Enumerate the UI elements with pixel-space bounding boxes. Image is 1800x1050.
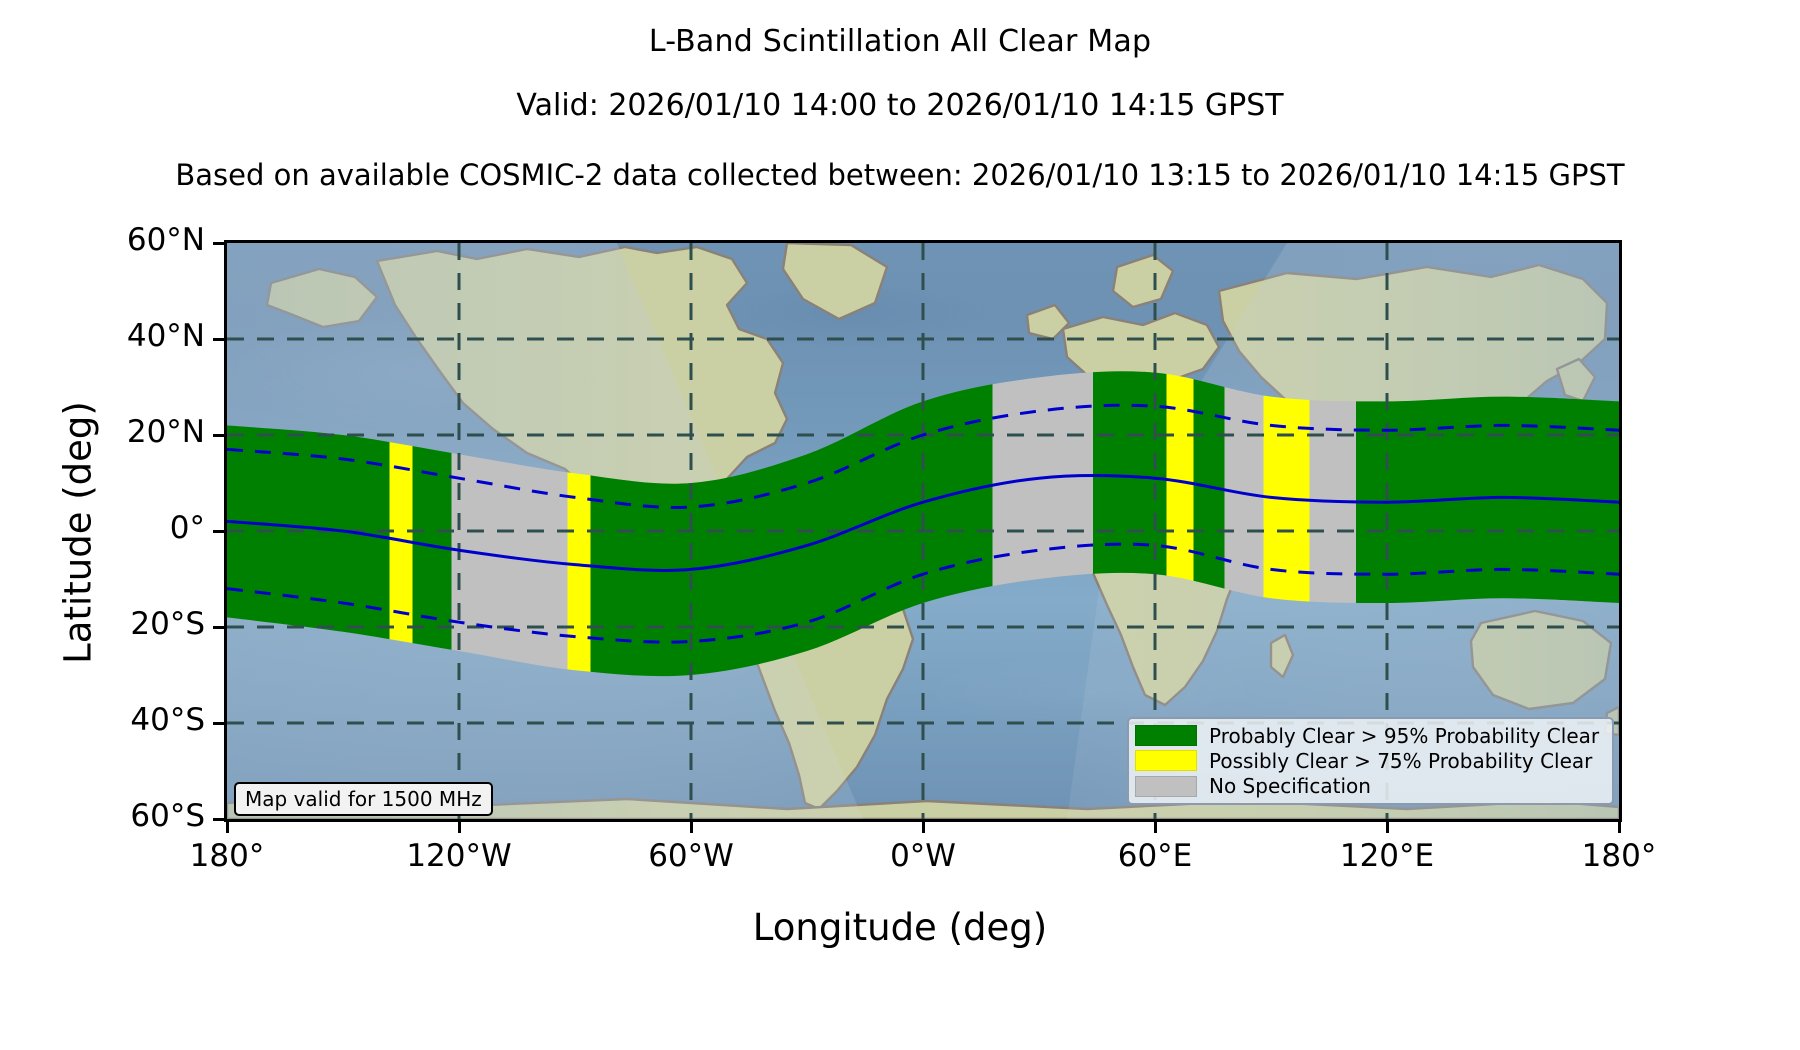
legend-label: Possibly Clear > 75% Probability Clear <box>1209 749 1592 773</box>
y-tick-mark <box>213 338 224 341</box>
y-tick-mark <box>213 434 224 437</box>
x-tick-mark <box>690 822 693 833</box>
x-tick-label: 60°W <box>571 838 811 874</box>
y-tick-mark <box>213 242 224 245</box>
legend-item: No Specification <box>1135 774 1604 799</box>
x-tick-mark <box>458 822 461 833</box>
y-tick-label: 60°N <box>25 222 205 258</box>
x-tick-label: 120°W <box>339 838 579 874</box>
y-tick-mark <box>213 626 224 629</box>
y-tick-label: 60°S <box>25 798 205 834</box>
map-legend: Probably Clear > 95% Probability Clear P… <box>1127 717 1614 805</box>
legend-swatch-no-specification <box>1135 776 1197 797</box>
x-tick-label: 60°E <box>1035 838 1275 874</box>
legend-item: Probably Clear > 95% Probability Clear <box>1135 723 1604 748</box>
legend-label: Probably Clear > 95% Probability Clear <box>1209 724 1599 748</box>
legend-swatch-probably-clear <box>1135 725 1197 746</box>
legend-label: No Specification <box>1209 774 1371 798</box>
y-tick-mark <box>213 818 224 821</box>
y-tick-label: 20°S <box>25 606 205 642</box>
x-tick-mark <box>226 822 229 833</box>
legend-item: Possibly Clear > 75% Probability Clear <box>1135 748 1604 773</box>
y-tick-mark <box>213 722 224 725</box>
data-source-subtitle: Based on available COSMIC-2 data collect… <box>0 158 1800 192</box>
legend-swatch-possibly-clear <box>1135 750 1197 771</box>
x-tick-mark <box>1386 822 1389 833</box>
y-tick-mark <box>213 530 224 533</box>
x-tick-label: 180° <box>1499 838 1739 874</box>
valid-time-subtitle: Valid: 2026/01/10 14:00 to 2026/01/10 14… <box>0 88 1800 123</box>
x-axis-label: Longitude (deg) <box>0 906 1800 949</box>
x-tick-mark <box>1618 822 1621 833</box>
x-tick-label: 0°W <box>803 838 1043 874</box>
x-tick-label: 180° <box>107 838 347 874</box>
x-tick-label: 120°E <box>1267 838 1507 874</box>
y-tick-label: 0° <box>25 510 205 546</box>
scintillation-map-page: L-Band Scintillation All Clear Map Valid… <box>0 0 1800 1050</box>
y-tick-label: 20°N <box>25 414 205 450</box>
page-title: L-Band Scintillation All Clear Map <box>0 24 1800 59</box>
y-tick-label: 40°S <box>25 702 205 738</box>
frequency-annotation: Map valid for 1500 MHz <box>234 782 493 816</box>
x-tick-mark <box>922 822 925 833</box>
y-tick-label: 40°N <box>25 318 205 354</box>
x-tick-mark <box>1154 822 1157 833</box>
